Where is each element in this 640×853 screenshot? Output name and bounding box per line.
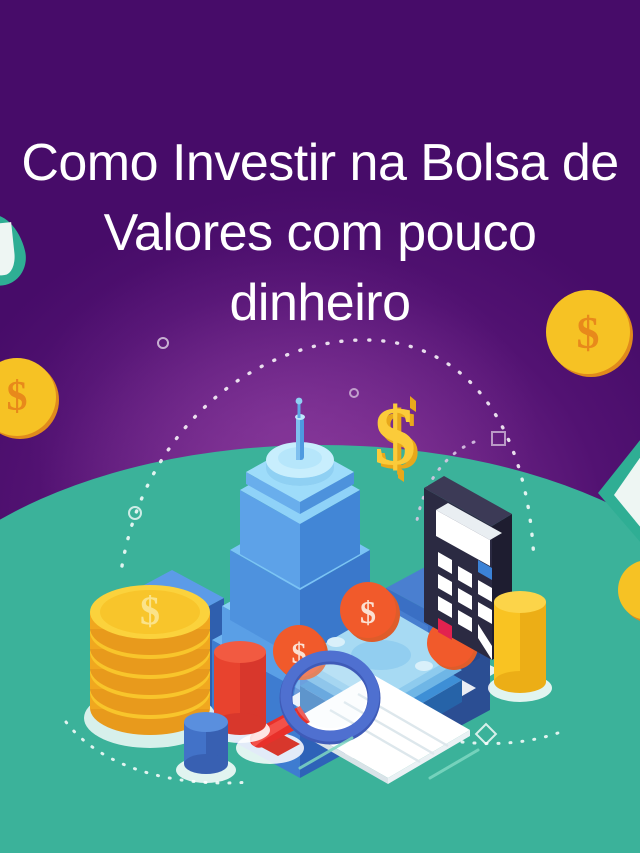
blue-cylinder bbox=[176, 712, 236, 783]
yellow-cylinder bbox=[488, 591, 552, 702]
page-title: Como Investir na Bolsa de Valores com po… bbox=[0, 128, 640, 338]
ring-decoration-1 bbox=[157, 337, 169, 349]
title-text: Como Investir na Bolsa de Valores com po… bbox=[0, 128, 640, 338]
slide-canvas: $ $ $ $ $ bbox=[0, 0, 640, 853]
coin-stack-dollar-glyph: $ bbox=[140, 588, 160, 633]
title-line-1: Como Investir na Bolsa de bbox=[0, 128, 640, 198]
title-line-3: dinheiro bbox=[0, 268, 640, 338]
title-line-2: Valores com pouco bbox=[0, 198, 640, 268]
isometric-investing-illustration: $ $ bbox=[0, 370, 640, 810]
svg-text:$: $ bbox=[360, 594, 376, 630]
